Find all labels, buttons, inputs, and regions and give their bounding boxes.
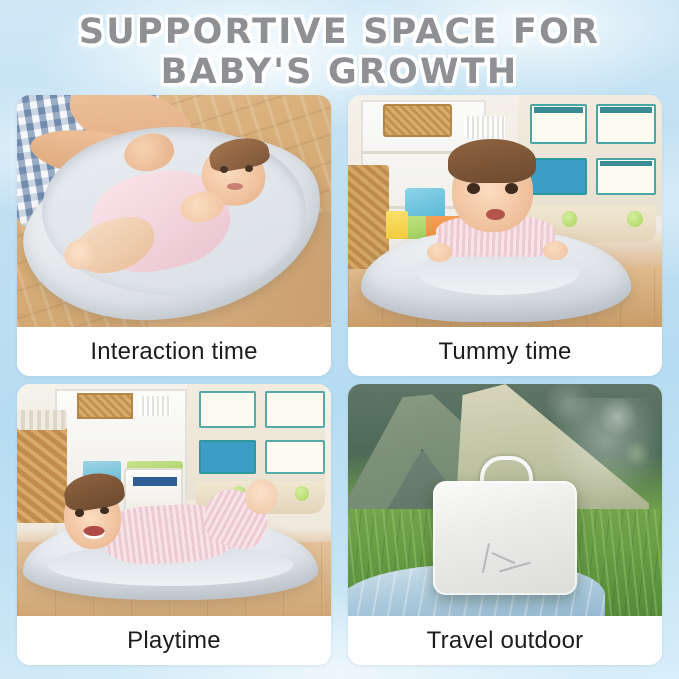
feature-card-tummy-time: Tummy time bbox=[348, 95, 662, 376]
wall-poster-3 bbox=[530, 158, 587, 195]
storage-bin-label bbox=[133, 477, 177, 486]
books-stack bbox=[464, 116, 505, 139]
wicker-basket-liner bbox=[17, 410, 67, 431]
baby-hair bbox=[448, 139, 536, 183]
wall-poster-4 bbox=[596, 158, 656, 195]
page-title: SUPPORTIVE SPACE FOR BABY'S GROWTH bbox=[0, 12, 679, 92]
feature-card-grid: Interaction time bbox=[17, 95, 662, 665]
promo-image-root: SUPPORTIVE SPACE FOR BABY'S GROWTH bbox=[0, 0, 679, 679]
baby-mouth bbox=[486, 209, 505, 221]
baby-mouth bbox=[83, 526, 105, 540]
photo-playtime bbox=[17, 384, 331, 616]
wall-poster-4 bbox=[265, 440, 325, 475]
poster-title-bar bbox=[534, 107, 584, 113]
baby-eye-left bbox=[467, 183, 480, 194]
baby-eye-right bbox=[505, 183, 518, 194]
page-title-line-1: SUPPORTIVE SPACE FOR bbox=[0, 12, 679, 52]
case-crease bbox=[500, 562, 531, 573]
caption-tummy-time: Tummy time bbox=[348, 327, 662, 376]
folded-lounger-case bbox=[433, 481, 577, 595]
page-title-line-2: BABY'S GROWTH bbox=[0, 52, 679, 92]
case-crease bbox=[482, 543, 490, 572]
block-yellow bbox=[386, 211, 408, 239]
feature-card-interaction-time: Interaction time bbox=[17, 95, 331, 376]
poster-title-bar bbox=[600, 161, 653, 166]
photo-tummy-time bbox=[348, 95, 662, 327]
baby-eye-left bbox=[75, 509, 84, 516]
photo-interaction-time bbox=[17, 95, 331, 327]
photo-travel-outdoor bbox=[348, 384, 662, 616]
baby-eye-right bbox=[245, 165, 253, 172]
baby-hand-left bbox=[427, 243, 452, 262]
feature-card-travel-outdoor: Travel outdoor bbox=[348, 384, 662, 665]
poster-title-bar bbox=[600, 107, 653, 113]
block-green bbox=[408, 216, 427, 239]
caption-travel-outdoor: Travel outdoor bbox=[348, 616, 662, 665]
wall-poster-3 bbox=[199, 440, 256, 475]
baby-eye-left bbox=[220, 166, 228, 173]
woven-basket bbox=[77, 393, 134, 419]
books-stack bbox=[139, 396, 170, 417]
wall-poster-2 bbox=[596, 104, 656, 143]
woven-basket bbox=[383, 104, 452, 136]
baby-hand-right bbox=[543, 241, 568, 260]
case-crease bbox=[491, 552, 514, 564]
wall-poster-2 bbox=[265, 391, 325, 428]
caption-interaction-time: Interaction time bbox=[17, 327, 331, 376]
caption-playtime: Playtime bbox=[17, 616, 331, 665]
feature-card-playtime: Playtime bbox=[17, 384, 331, 665]
wall-poster-1 bbox=[530, 104, 587, 143]
wall-poster-1 bbox=[199, 391, 256, 428]
